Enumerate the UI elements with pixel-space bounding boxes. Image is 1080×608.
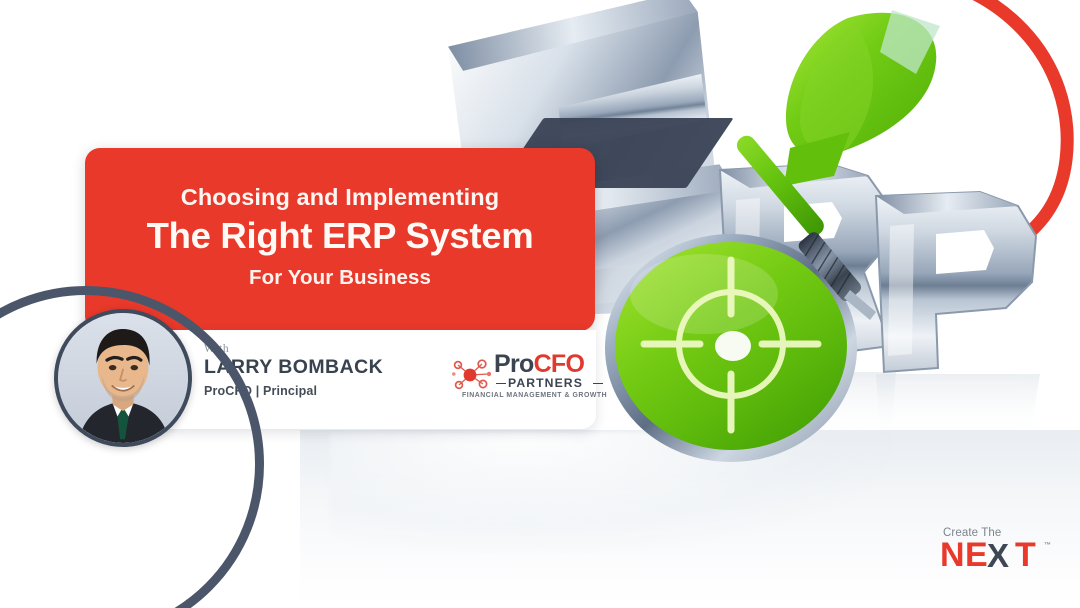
ctn-wordmark: N E X T ™ bbox=[940, 538, 1062, 572]
procfo-wordmark: ProCFO bbox=[494, 352, 584, 377]
procfo-word-cfo: CFO bbox=[534, 350, 585, 378]
ctn-letter-t: T bbox=[1015, 538, 1035, 572]
title-line-2: The Right ERP System bbox=[147, 215, 534, 257]
procfo-rule-left bbox=[496, 383, 506, 385]
procfo-partners-word: PARTNERS bbox=[508, 376, 583, 390]
molecule-network-icon bbox=[452, 358, 492, 392]
title-line-1: Choosing and Implementing bbox=[181, 185, 499, 211]
green-dart-icon bbox=[730, 0, 990, 330]
procfo-rule-right bbox=[593, 383, 603, 385]
ctn-letter-e: E bbox=[965, 538, 987, 572]
procfo-word-pro: Pro bbox=[494, 350, 534, 378]
avatar-portrait-icon bbox=[58, 313, 188, 443]
ctn-trademark: ™ bbox=[1044, 542, 1051, 549]
ctn-letter-x: X bbox=[987, 539, 1009, 572]
create-the-next-logo: Create The N E X T ™ bbox=[940, 527, 1062, 579]
speaker-with-label: With bbox=[204, 343, 383, 355]
procfo-tagline: FINANCIAL MANAGEMENT & GROWTH bbox=[462, 392, 607, 399]
avatar bbox=[54, 309, 192, 447]
ctn-letter-n: N bbox=[940, 538, 964, 572]
slide-canvas: Choosing and Implementing The Right ERP … bbox=[0, 0, 1080, 608]
title-line-3: For Your Business bbox=[249, 266, 431, 290]
procfo-partners-logo: ProCFO PARTNERS FINANCIAL MANAGEMENT & G… bbox=[452, 348, 602, 410]
